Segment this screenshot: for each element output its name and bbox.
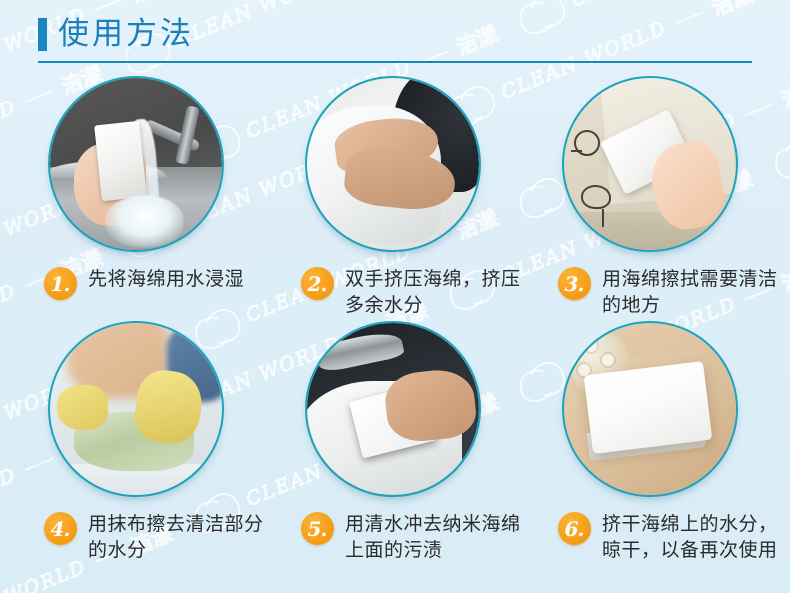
watermark-text-cn: 洁漾 [126,0,176,9]
step-card-2: 2. 双手挤压海绵，挤压 多余水分 [279,76,529,318]
step-photo-wrap-3 [562,76,738,252]
step-text-line2-2: 多余水分 [345,292,521,318]
page-title: 使用方法 [58,19,194,50]
step-card-5: 5. 用清水冲去纳米海绵 上面的污渍 [279,321,529,563]
title-underline [38,61,752,63]
step-number-1: 1. [44,267,77,300]
step-photo-wrap-2 [305,76,481,252]
page-root: CLEAN WORLD洁漾CLEAN WORLD洁漾CLEAN WORLD洁漾C… [0,0,790,593]
step-text-6: 挤干海绵上的水分， 晾干，以备再次使用 [602,511,778,563]
page-header: 使用方法 [38,14,752,63]
step-badge-5: 5. [301,512,334,545]
step-text-2: 双手挤压海绵，挤压 多余水分 [345,266,521,318]
step-text-line1-5: 用清水冲去纳米海绵 [345,513,521,535]
doodle-cloud-icon [581,185,611,209]
step-row-2: 4. 用抹布擦去清洁部分 的水分 [0,321,790,563]
step-text-line1-4: 用抹布擦去清洁部分 [88,513,264,535]
steps-grid: 1. 先将海绵用水浸湿 [0,76,790,563]
step-badge-6: 6. [558,512,591,545]
step-text-5: 用清水冲去纳米海绵 上面的污渍 [345,511,521,563]
step-caption-3: 3. 用海绵擦拭需要清洁 的地方 [536,266,786,318]
watermark-text-en: CLEAN WORLD [568,0,740,11]
step-photo-4 [48,321,224,497]
step-number-6: 6. [558,512,591,545]
header-row: 使用方法 [38,14,752,54]
scene-rinsing-sponge [307,323,479,495]
step-card-3: 3. 用海绵擦拭需要清洁 的地方 [536,76,786,318]
step-caption-2: 2. 双手挤压海绵，挤压 多余水分 [279,266,529,318]
scene-wiping-wall-doodles [564,78,736,250]
step-text-line1-6: 挤干海绵上的水分， [602,513,778,535]
step-text-4: 用抹布擦去清洁部分 的水分 [88,511,264,563]
step-photo-1 [48,76,224,252]
step-badge-3: 3. [558,267,591,300]
step-text-1: 先将海绵用水浸湿 [88,266,244,292]
step-text-line1-3: 用海绵擦拭需要清洁 [602,268,778,290]
step-card-4: 4. 用抹布擦去清洁部分 的水分 [22,321,272,563]
step-text-line2-4: 的水分 [88,537,264,563]
step-number-4: 4. [44,512,77,545]
step-photo-2 [305,76,481,252]
step-number-3: 3. [558,267,591,300]
step-number-2: 2. [301,267,334,300]
step-caption-4: 4. 用抹布擦去清洁部分 的水分 [22,511,272,563]
step-text-line1-1: 先将海绵用水浸湿 [88,268,244,290]
scene-hands-squeezing-sponge [307,78,479,250]
step-caption-5: 5. 用清水冲去纳米海绵 上面的污渍 [279,511,529,563]
step-badge-4: 4. [44,512,77,545]
scene-gloves-wiping-cloth [50,323,222,495]
step-photo-6 [562,321,738,497]
step-text-line2-6: 晾干，以备再次使用 [602,537,778,563]
step-card-6: 6. 挤干海绵上的水分， 晾干，以备再次使用 [536,321,786,563]
step-photo-5 [305,321,481,497]
scene-sponge-block-on-wood [564,323,736,495]
step-badge-2: 2. [301,267,334,300]
step-card-1: 1. 先将海绵用水浸湿 [22,76,272,318]
scene-sponge-under-faucet [50,78,222,250]
step-photo-wrap-5 [305,321,481,497]
step-caption-1: 1. 先将海绵用水浸湿 [22,266,272,300]
step-badge-1: 1. [44,267,77,300]
step-photo-wrap-6 [562,321,738,497]
step-text-line1-2: 双手挤压海绵，挤压 [345,268,521,290]
step-photo-wrap-4 [48,321,224,497]
step-caption-6: 6. 挤干海绵上的水分， 晾干，以备再次使用 [536,511,786,563]
step-text-line2-5: 上面的污渍 [345,537,521,563]
step-row-1: 1. 先将海绵用水浸湿 [0,76,790,318]
step-number-5: 5. [301,512,334,545]
step-text-line2-3: 的地方 [602,292,778,318]
title-accent-bar [38,18,47,51]
step-photo-wrap-1 [48,76,224,252]
step-photo-3 [562,76,738,252]
step-text-3: 用海绵擦拭需要清洁 的地方 [602,266,778,318]
watermark-dash [95,0,124,11]
